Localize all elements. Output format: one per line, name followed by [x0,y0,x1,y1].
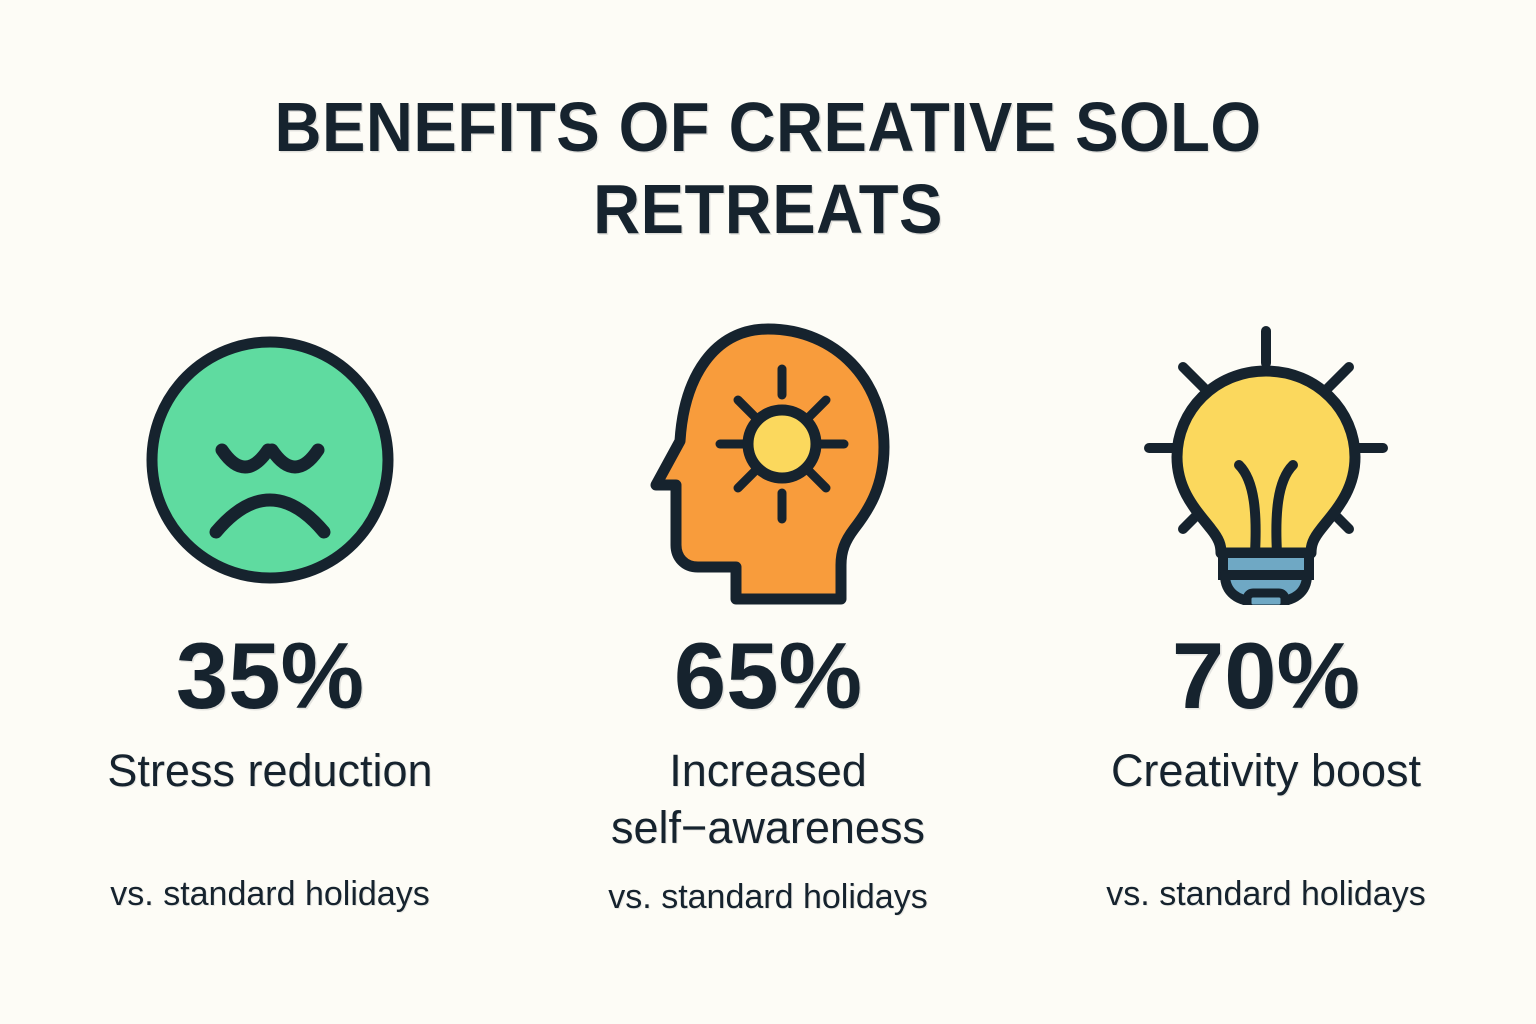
page-title-line-1: BENEFITS OF CREATIVE SOLO [54,86,1482,168]
page-title-line-2: RETREATS [54,168,1482,250]
stat-column-creativity-boost: 70% Creativity boost vs. standard holida… [1026,320,1506,915]
stat-column-stress-reduction: 35% Stress reduction vs. standard holida… [30,320,510,915]
stat-label: Stress reduction [107,742,432,799]
stat-columns: 35% Stress reduction vs. standard holida… [0,320,1536,918]
stat-column-self-awareness: 65% Increased self−awareness vs. standar… [528,320,1008,918]
stat-sublabel: vs. standard holidays [1106,873,1425,915]
stat-label: Increased self−awareness [533,742,1003,856]
stat-value: 65% [674,624,862,728]
head-with-sun-icon [640,320,896,600]
sad-face-icon [142,320,398,600]
infographic-poster: BENEFITS OF CREATIVE SOLO RETREATS 35% S… [0,0,1536,1024]
stat-value: 70% [1172,624,1360,728]
stat-sublabel: vs. standard holidays [608,876,927,918]
stat-value: 35% [176,624,364,728]
lightbulb-icon [1121,320,1411,600]
stat-sublabel: vs. standard holidays [110,873,429,915]
page-title: BENEFITS OF CREATIVE SOLO RETREATS [0,86,1536,250]
stat-label: Creativity boost [1111,742,1421,799]
